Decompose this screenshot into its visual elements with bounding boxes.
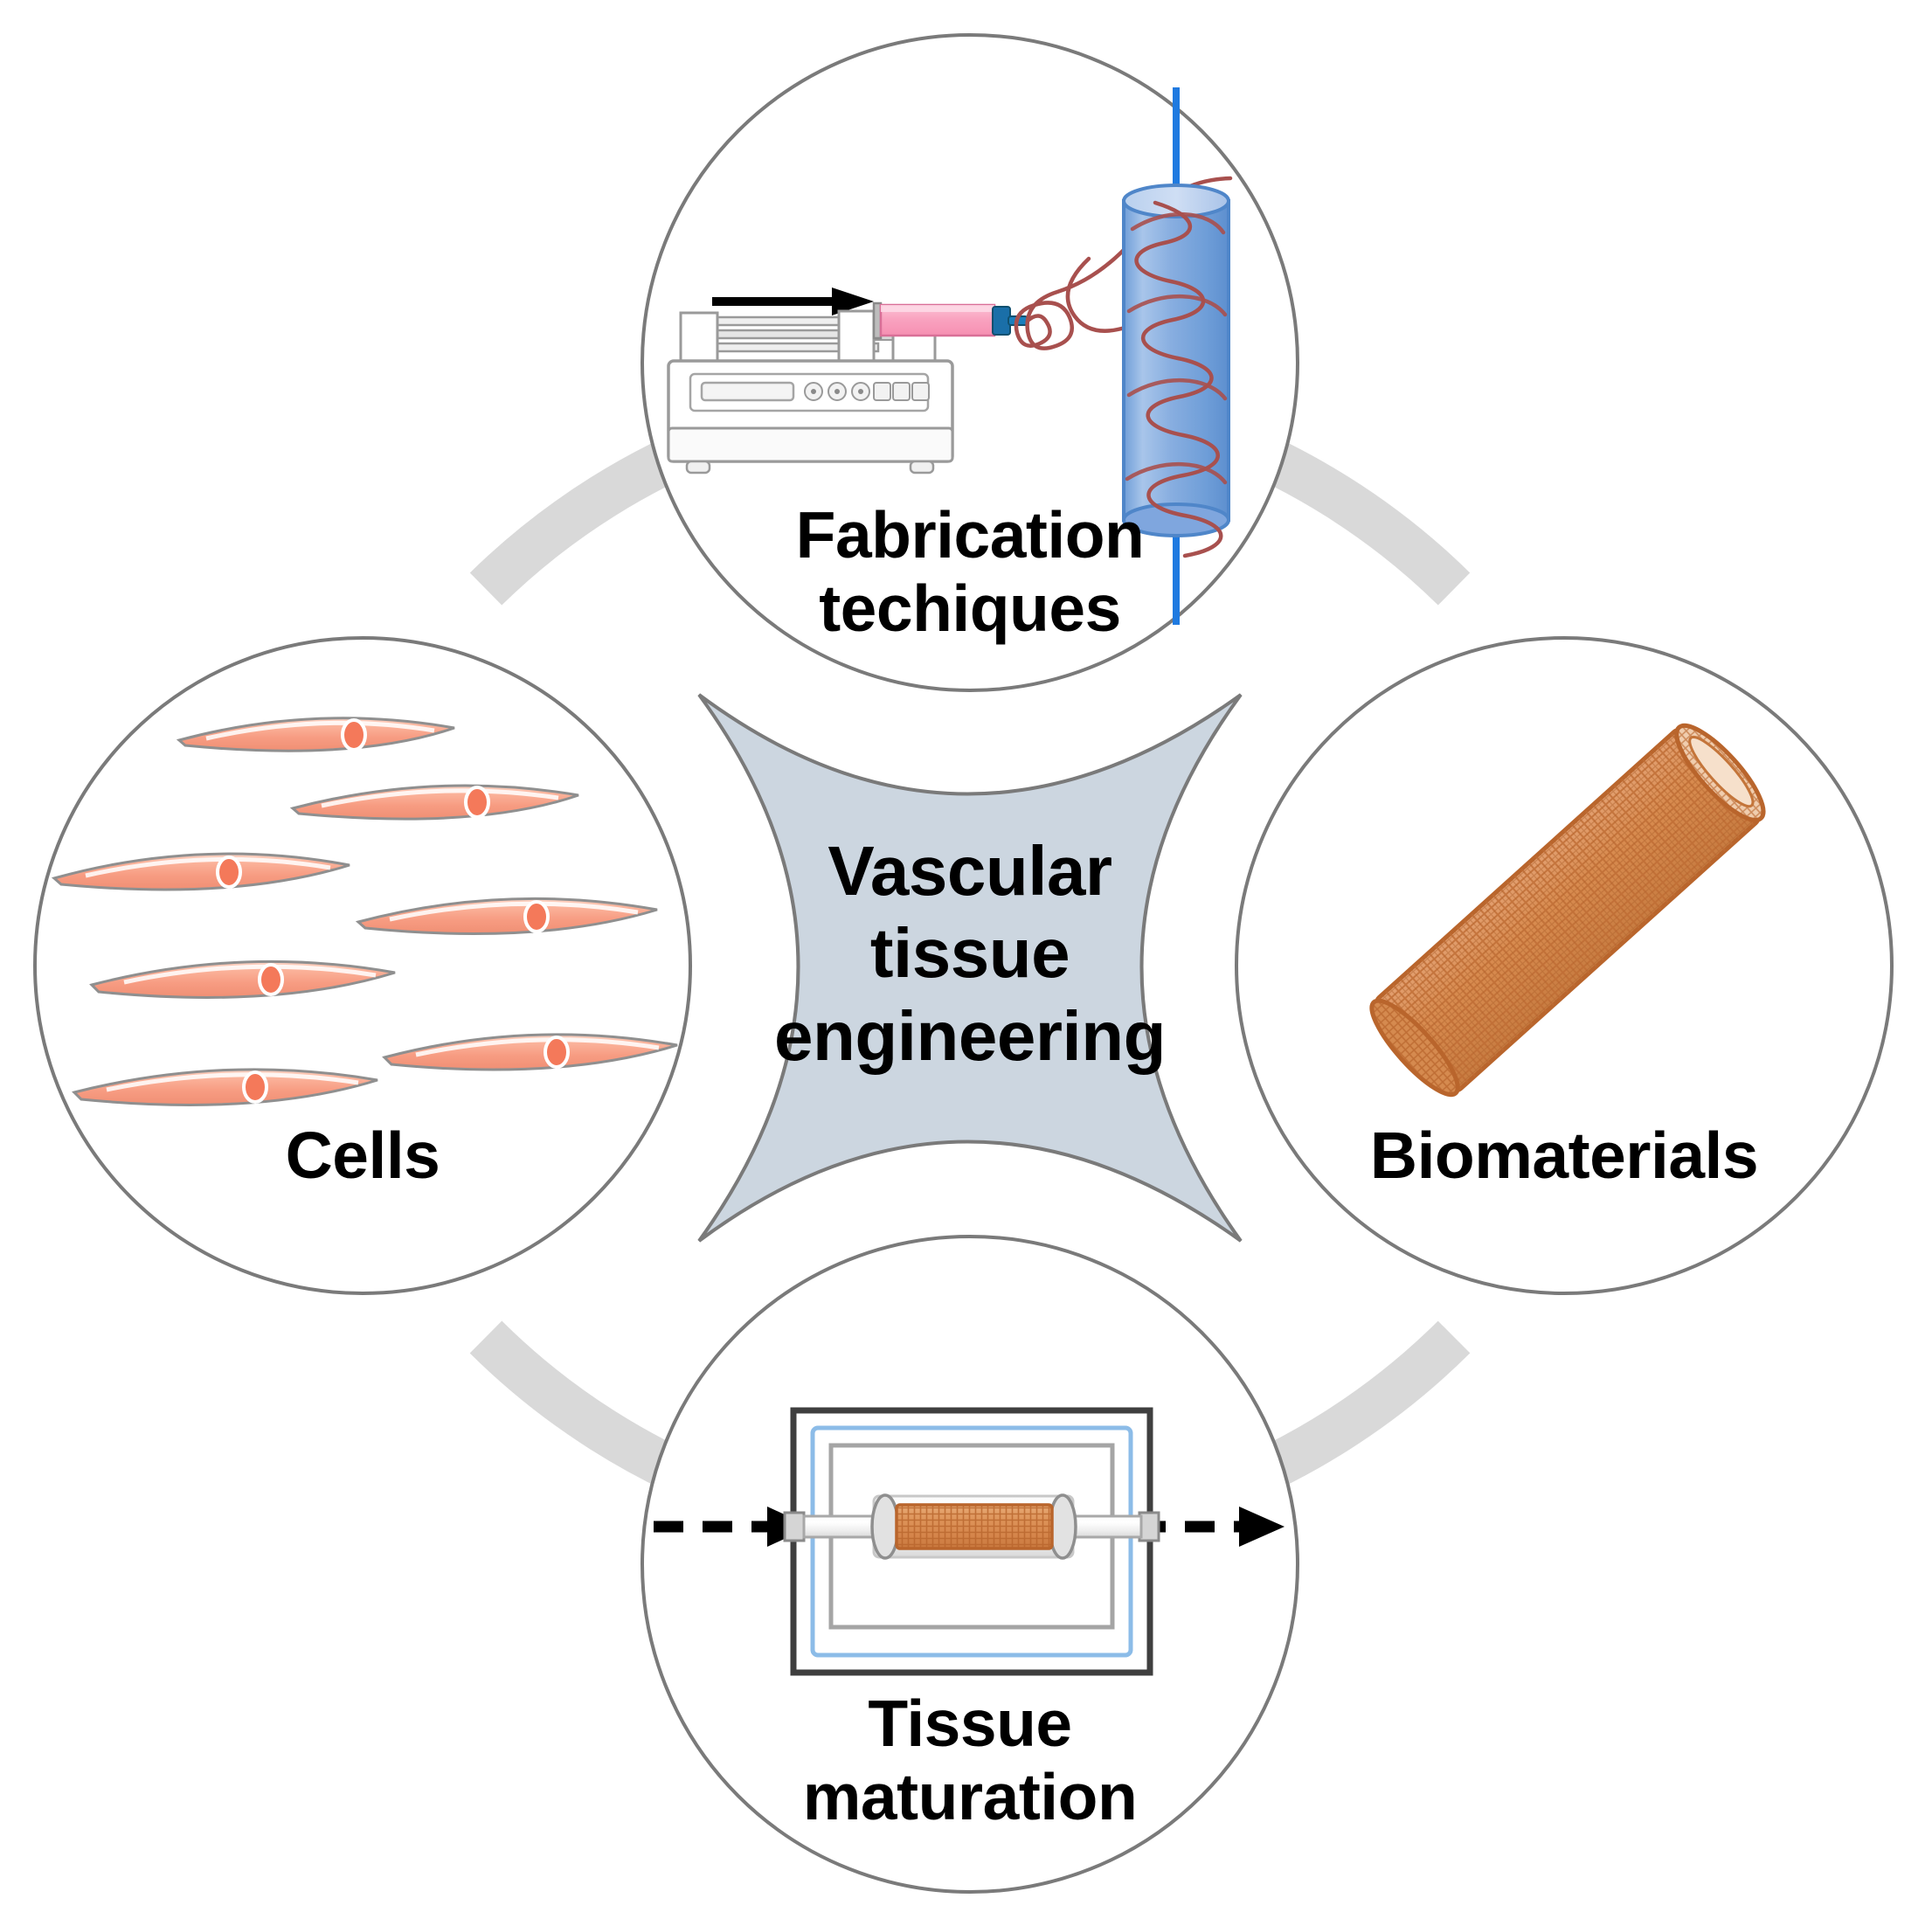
tissue-maturation-label: Tissue maturation: [708, 1687, 1232, 1833]
fabrication-label: Fabrication techiques: [708, 498, 1232, 645]
node-cells[interactable]: [35, 638, 690, 1293]
center-hub-label: Vascular tissue engineering: [708, 830, 1232, 1077]
diagram-canvas: Fabrication techiques Cells Biomaterials…: [0, 0, 1932, 1926]
node-biomaterials[interactable]: [1236, 638, 1892, 1293]
biomaterials-label: Biomaterials: [1302, 1119, 1826, 1192]
cells-label: Cells: [144, 1119, 581, 1192]
